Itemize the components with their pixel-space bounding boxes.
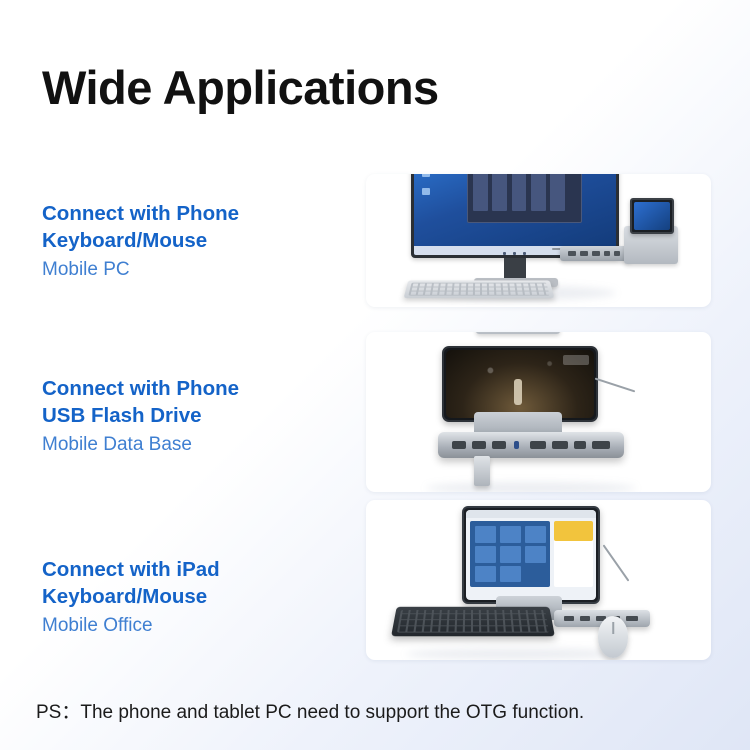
section-1-image-card xyxy=(366,174,711,307)
usb-hub-device xyxy=(438,432,624,458)
keyboard-icon xyxy=(391,607,555,636)
section-3-text: Connect with iPad Keyboard/Mouse Mobile … xyxy=(42,556,352,639)
desktop-icon xyxy=(422,174,430,177)
hub-port xyxy=(552,441,568,449)
window-tile xyxy=(473,174,488,211)
video-tile xyxy=(475,566,496,582)
highlight-panel xyxy=(554,521,593,541)
stand-top-bar xyxy=(476,332,560,334)
hub-port xyxy=(492,441,506,449)
phone-stand-hub-usb-drive-photo xyxy=(366,332,711,492)
hub-port xyxy=(472,441,486,449)
hub-port xyxy=(580,251,588,256)
wide-applications-page: Wide Applications Connect with Phone Key… xyxy=(0,0,750,750)
scene3-shadow xyxy=(406,648,626,660)
app-topbar xyxy=(466,510,596,518)
usb-cable xyxy=(595,378,636,393)
hub-port xyxy=(604,251,610,256)
hub-port xyxy=(574,441,586,449)
page-title: Wide Applications xyxy=(42,60,439,115)
hub-port xyxy=(452,441,466,449)
monitor-neck xyxy=(504,258,526,280)
section-2-text: Connect with Phone USB Flash Drive Mobil… xyxy=(42,375,352,458)
usb-hub-device xyxy=(560,246,632,261)
monitor-keyboard-hub-phone-photo xyxy=(366,174,711,307)
section-1-line3: Mobile PC xyxy=(42,256,352,283)
scene2-shadow xyxy=(426,482,636,492)
hub-port xyxy=(626,616,638,621)
section-2-line2: USB Flash Drive xyxy=(42,402,352,429)
footer-note: PS：The phone and tablet PC need to suppo… xyxy=(36,697,726,724)
tablet-screen xyxy=(466,510,596,600)
phone-device xyxy=(442,346,598,422)
section-3-line2: Keyboard/Mouse xyxy=(42,583,352,610)
section-2-line3: Mobile Data Base xyxy=(42,431,352,458)
video-tile xyxy=(500,526,521,543)
keyboard-keys xyxy=(397,610,549,633)
taskbar-icon xyxy=(513,252,516,255)
hub-port xyxy=(592,251,600,256)
window-tile xyxy=(492,174,507,211)
game-character xyxy=(514,379,522,405)
section-3-image-card xyxy=(366,500,711,660)
usb-flash-drive xyxy=(474,456,490,486)
section-2-image-card xyxy=(366,332,711,492)
window-panel xyxy=(467,174,582,223)
section-1-line2: Keyboard/Mouse xyxy=(42,227,352,254)
video-grid xyxy=(470,521,551,588)
video-tile xyxy=(525,546,546,563)
section-1-line1: Connect with Phone xyxy=(42,200,352,227)
tablet-device xyxy=(462,506,600,604)
phone-screen-game xyxy=(446,350,594,418)
hub-port xyxy=(614,251,620,256)
ipad-keyboard-mouse-hub-photo xyxy=(366,500,711,660)
video-tile xyxy=(500,566,521,582)
phone-screen xyxy=(634,202,670,230)
section-1-text: Connect with Phone Keyboard/Mouse Mobile… xyxy=(42,200,352,283)
hub-port xyxy=(568,251,576,256)
hub-port-usb-c xyxy=(514,441,519,449)
section-2-line1: Connect with Phone xyxy=(42,375,352,402)
window-tile xyxy=(531,174,546,211)
game-hud xyxy=(563,355,589,365)
hub-port xyxy=(564,616,574,621)
keyboard-keys xyxy=(408,283,549,296)
mouse-icon xyxy=(598,616,628,658)
keyboard-icon xyxy=(404,280,555,298)
window-tile xyxy=(550,174,565,211)
desktop-icon xyxy=(422,188,430,195)
section-3-line1: Connect with iPad xyxy=(42,556,352,583)
hub-port xyxy=(530,441,546,449)
taskbar-icon xyxy=(523,252,526,255)
phone-device xyxy=(630,198,674,234)
video-tile xyxy=(475,546,496,563)
hub-port xyxy=(580,616,590,621)
usb-cable xyxy=(603,544,630,581)
window-tile xyxy=(512,174,527,211)
section-3-line3: Mobile Office xyxy=(42,612,352,639)
video-tile xyxy=(500,546,521,563)
video-tile xyxy=(475,526,496,543)
monitor-screen xyxy=(414,174,616,255)
hub-port xyxy=(592,441,610,449)
taskbar-icon xyxy=(503,252,506,255)
video-tile xyxy=(525,526,546,543)
